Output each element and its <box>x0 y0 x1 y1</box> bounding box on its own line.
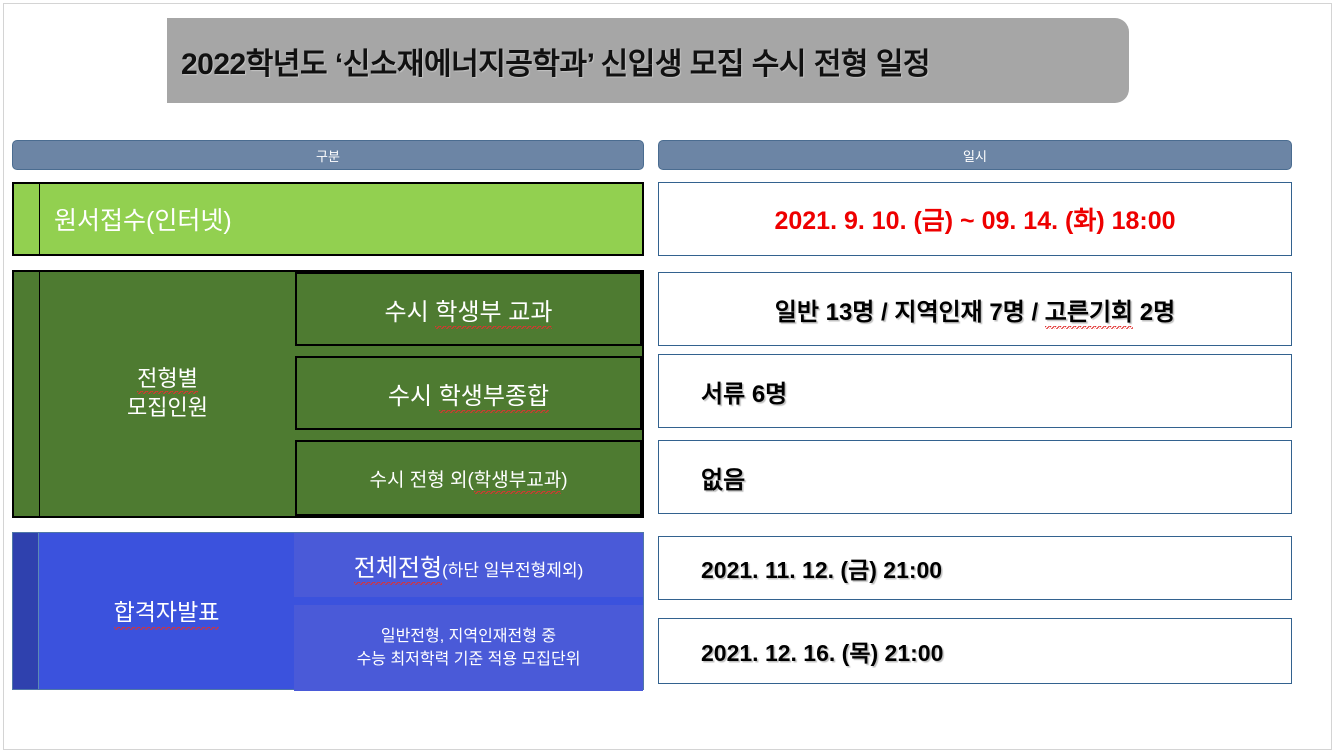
row-quota-accent-stripe <box>14 272 40 516</box>
row-announcement-label-inner: 합격자발표 <box>114 593 220 630</box>
row-application-label: 원서접수(인터넷) <box>12 182 644 256</box>
announcement-value-all-text: 2021. 11. 12. (금) 21:00 <box>701 551 942 585</box>
quota-subrow-susi-etc: 수시 전형 외(학생부교과) <box>295 440 642 516</box>
column-header-datetime: 일시 <box>658 140 1292 170</box>
row-quota-label: 전형별 모집인원 수시 학생부 교과 수시 학생부종합 수시 전형 외(학생부교… <box>12 270 644 518</box>
quota-value-susi-etc-text: 없음 <box>701 460 745 495</box>
quota-value-susi-jonghap-text: 서류 6명 <box>701 374 787 409</box>
row-quota-subrows: 수시 학생부 교과 수시 학생부종합 수시 전형 외(학생부교과) <box>295 272 642 516</box>
row-announcement-accent-stripe <box>13 533 39 689</box>
announcement-value-minimum-text: 2021. 12. 16. (목) 21:00 <box>701 634 943 668</box>
row-application-label-text: 원서접수(인터넷) <box>54 201 232 237</box>
slide-canvas: 2022학년도 ‘신소재에너지공학과’ 신입생 모집 수시 전형 일정 구분 일… <box>0 0 1336 754</box>
row-quota-label-line1: 전형별 <box>137 366 198 394</box>
column-header-category-label: 구분 <box>316 146 340 165</box>
row-announcement-label: 합격자발표 전체전형(하단 일부전형제외) 일반전형, 지역인재전형 중 수능 … <box>12 532 644 690</box>
announcement-value-all: 2021. 11. 12. (금) 21:00 <box>658 536 1292 600</box>
row-announcement-label-text: 합격자발표 <box>40 533 293 689</box>
announcement-subrow-all: 전체전형(하단 일부전형제외) <box>294 533 643 597</box>
title-banner: 2022학년도 ‘신소재에너지공학과’ 신입생 모집 수시 전형 일정 <box>167 18 1129 103</box>
row-quota-label-text: 전형별 모집인원 <box>41 272 294 516</box>
quota-subrow-susi-jonghap-label: 수시 학생부종합 <box>388 376 549 411</box>
quota-subrow-susi-gyogwa: 수시 학생부 교과 <box>295 272 642 346</box>
column-header-datetime-label: 일시 <box>963 146 987 165</box>
quota-subrow-susi-gyogwa-label: 수시 학생부 교과 <box>385 292 553 327</box>
row-application-value: 2021. 9. 10. (금) ~ 09. 14. (화) 18:00 <box>658 182 1292 256</box>
announcement-value-minimum: 2021. 12. 16. (목) 21:00 <box>658 618 1292 684</box>
quota-value-susi-gyogwa: 일반 13명 / 지역인재 7명 / 고른기회 2명 <box>658 272 1292 346</box>
announcement-subrow-minimum: 일반전형, 지역인재전형 중 수능 최저학력 기준 적용 모집단위 <box>294 605 643 691</box>
row-quota-label-line2: 모집인원 <box>127 395 208 420</box>
row-announcement-subrows: 전체전형(하단 일부전형제외) 일반전형, 지역인재전형 중 수능 최저학력 기… <box>294 533 643 689</box>
announcement-subrow-all-label: 전체전형(하단 일부전형제외) <box>354 548 584 583</box>
quota-value-susi-etc: 없음 <box>658 440 1292 514</box>
quota-subrow-susi-etc-label: 수시 전형 외(학생부교과) <box>369 465 567 492</box>
announcement-subrow-minimum-label: 일반전형, 지역인재전형 중 수능 최저학력 기준 적용 모집단위 <box>357 625 581 671</box>
row-application-accent-stripe <box>14 184 40 254</box>
quota-subrow-susi-jonghap: 수시 학생부종합 <box>295 356 642 430</box>
row-application-value-text: 2021. 9. 10. (금) ~ 09. 14. (화) 18:00 <box>774 201 1175 237</box>
quota-value-susi-jonghap: 서류 6명 <box>658 354 1292 428</box>
column-header-category: 구분 <box>12 140 644 170</box>
page-title: 2022학년도 ‘신소재에너지공학과’ 신입생 모집 수시 전형 일정 <box>181 39 930 83</box>
quota-value-susi-gyogwa-text: 일반 13명 / 지역인재 7명 / 고른기회 2명 <box>775 292 1175 327</box>
